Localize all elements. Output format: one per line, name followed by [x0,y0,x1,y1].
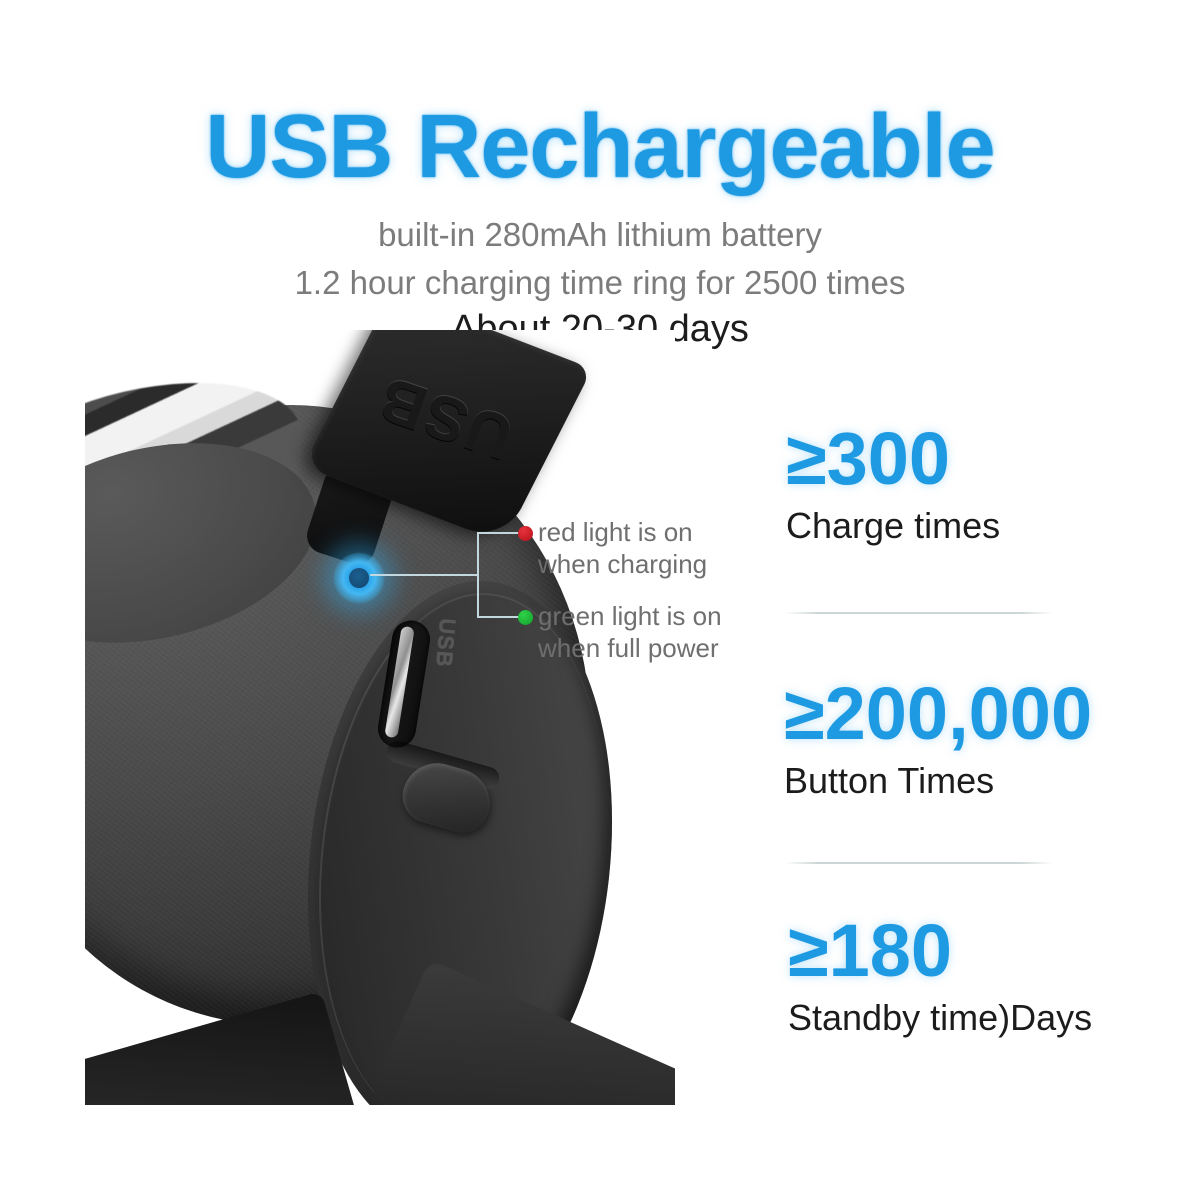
infographic-page: USB Rechargeable built-in 280mAh lithium… [0,0,1200,1200]
stat-charge-times-label: Charge times [786,504,1146,548]
stat-standby-time: ≥180 Standby time)Days [760,912,1148,1040]
callout-leader-line [370,574,478,576]
callout-green-line-2: when full power [538,632,722,664]
green-light-dot-icon [518,610,533,625]
page-title: USB Rechargeable [0,96,1200,199]
callout-red-line-1: red light is on [538,516,707,548]
product-photo: USB USB [85,330,675,1105]
red-light-dot-icon [518,526,533,541]
subtitle-line-2: 1.2 hour charging time ring for 2500 tim… [0,264,1200,302]
stat-button-times: ≥200,000 Button Times [760,675,1144,803]
stat-charge-times: ≥300 Charge times [760,420,1146,548]
stat-divider-1 [785,612,1053,614]
stat-divider-2 [785,862,1053,864]
stat-standby-time-value: ≥180 [788,912,1148,990]
callout-stub-red [477,532,519,534]
charging-indicator-led-core [349,568,369,588]
subtitle-line-1: built-in 280mAh lithium battery [0,216,1200,254]
stat-button-times-value: ≥200,000 [784,675,1144,753]
stat-charge-times-value: ≥300 [786,420,1146,498]
callout-green-text: green light is on when full power [538,600,722,664]
stat-button-times-label: Button Times [784,759,1144,803]
callout-bracket-line [477,533,479,617]
callout-stub-green [477,616,519,618]
callout-red-text: red light is on when charging [538,516,707,580]
callout-red-line-2: when charging [538,548,707,580]
stat-standby-time-label: Standby time)Days [788,996,1148,1040]
usb-port-label: USB [431,617,461,669]
callout-green-line-1: green light is on [538,600,722,632]
